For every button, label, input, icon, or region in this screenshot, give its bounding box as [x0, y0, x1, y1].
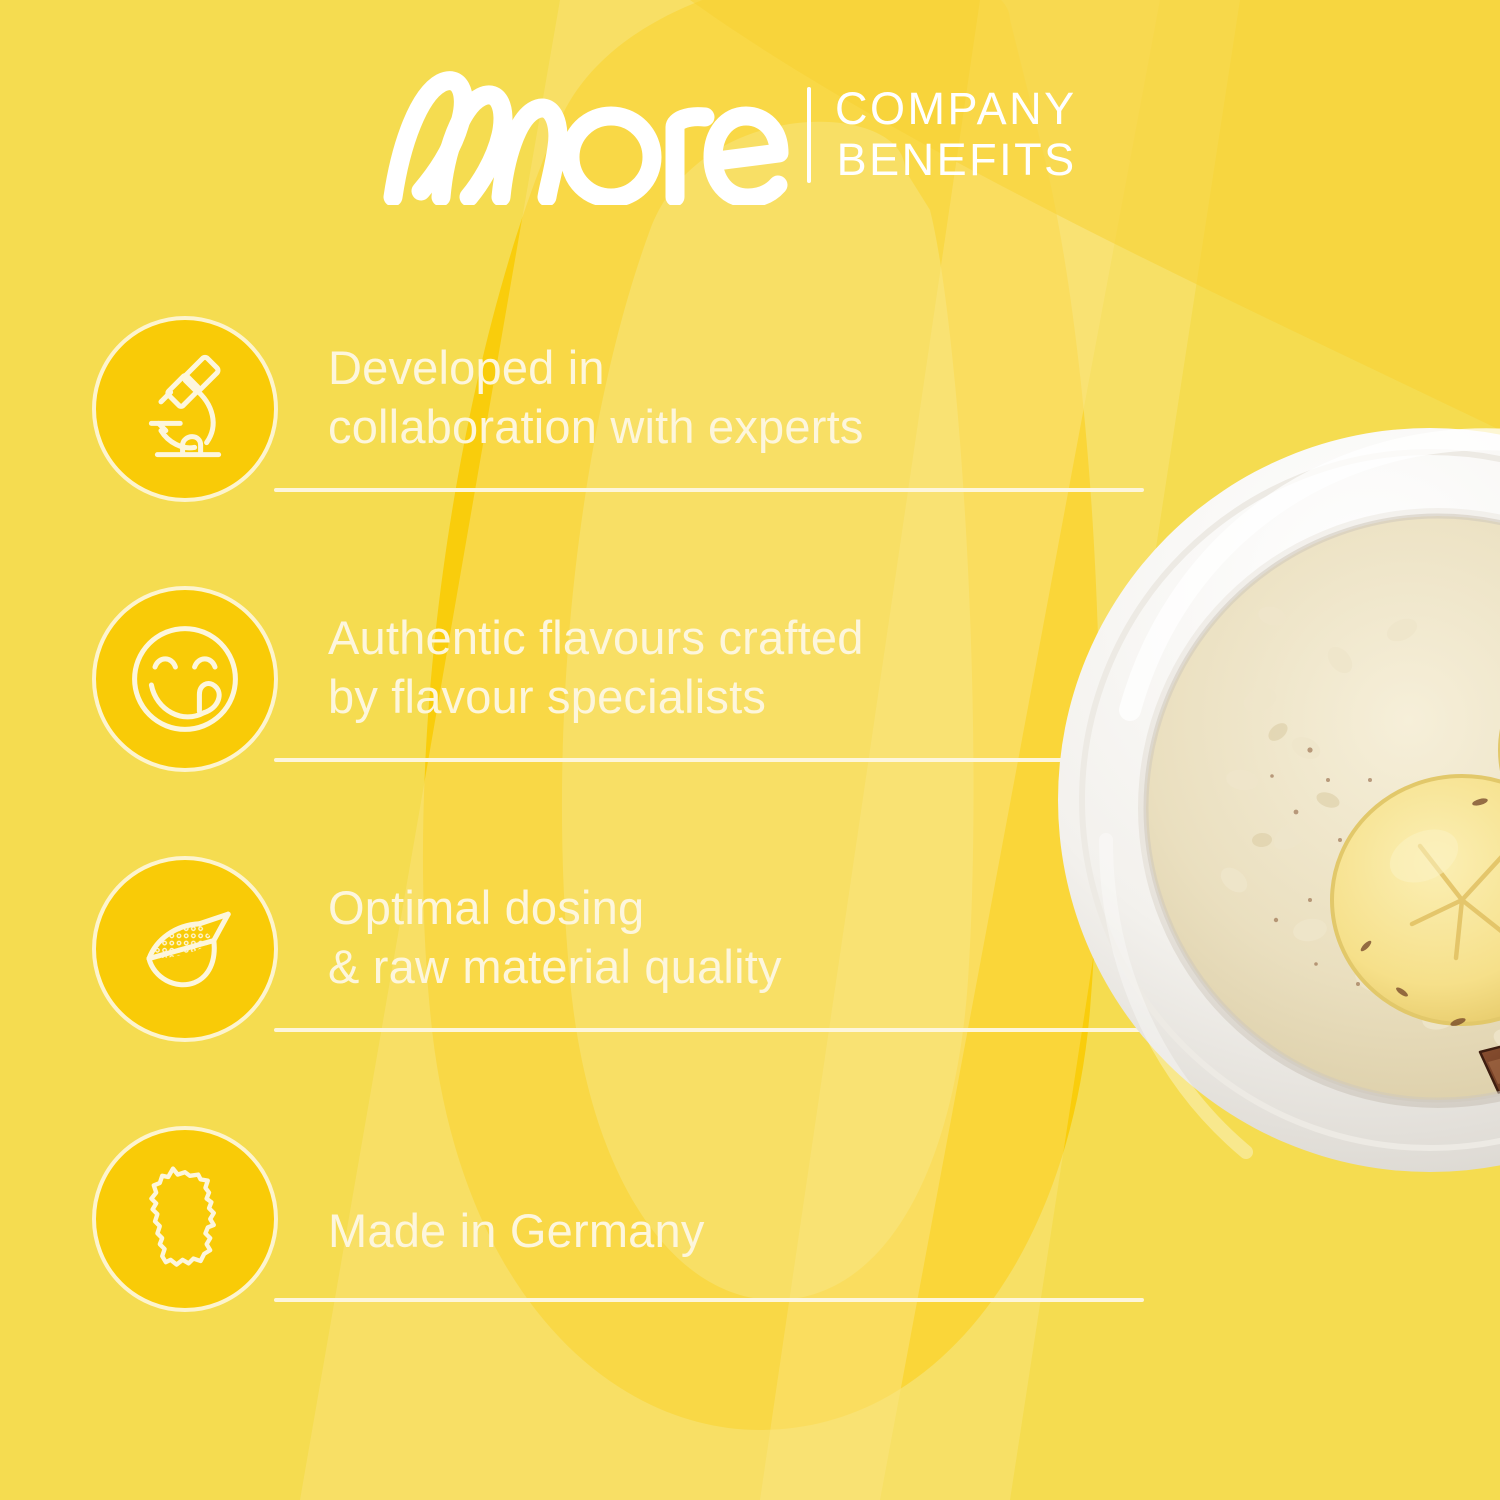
benefit-item-authentic-flavours: Authentic flavours crafted by flavour sp… — [92, 586, 1152, 786]
benefit-divider-rule — [274, 758, 1144, 762]
benefit-label: Developed in collaboration with experts — [328, 322, 1088, 472]
benefit-label: Authentic flavours crafted by flavour sp… — [328, 592, 1088, 742]
benefit-label: Made in Germany — [328, 1132, 1088, 1282]
smiley-tongue-icon — [125, 619, 245, 739]
germany-map-icon — [125, 1159, 245, 1279]
benefit-label: Optimal dosing & raw material quality — [328, 862, 1088, 1012]
promo-banner: COMPANY BENEFITS — [0, 0, 1500, 1500]
benefit-icon-badge — [92, 1126, 278, 1312]
microscope-icon — [125, 349, 245, 469]
benefit-divider-rule — [274, 1298, 1144, 1302]
benefit-icon-badge — [92, 316, 278, 502]
benefit-item-developed-with-experts: Developed in collaboration with experts — [92, 316, 1152, 516]
benefit-item-made-in-germany: Made in Germany — [92, 1126, 1152, 1326]
benefits-list: Developed in collaboration with experts — [0, 0, 1180, 1500]
benefit-icon-badge — [92, 586, 278, 772]
benefit-divider-rule — [274, 1028, 1144, 1032]
benefit-divider-rule — [274, 488, 1144, 492]
benefit-item-optimal-dosing: Optimal dosing & raw material quality — [92, 856, 1152, 1056]
benefit-icon-badge — [92, 856, 278, 1042]
measuring-scoop-icon — [125, 889, 245, 1009]
